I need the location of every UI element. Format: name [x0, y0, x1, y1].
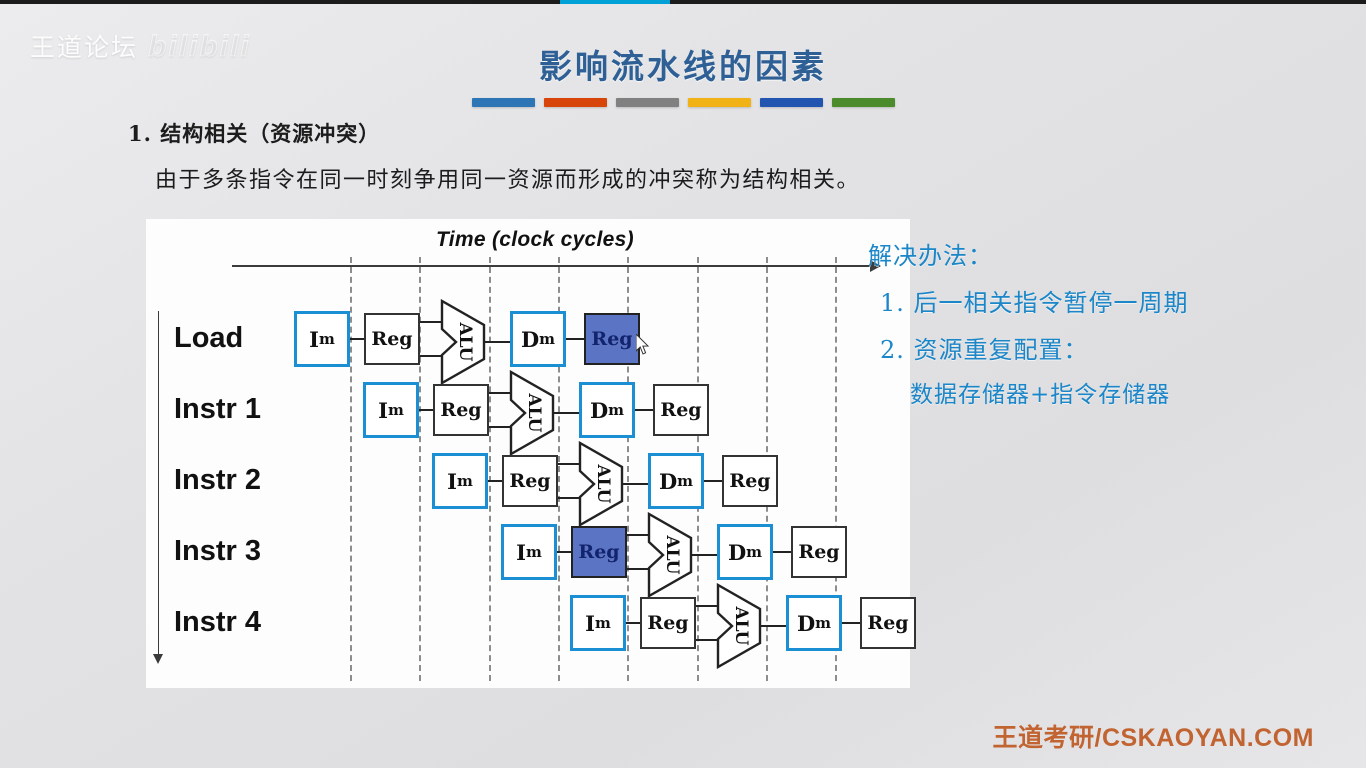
- instr3-if-im: Im: [501, 524, 557, 580]
- instr3-mem-dm: Dm: [717, 524, 773, 580]
- row-label-instr-1: Instr 1: [174, 393, 261, 426]
- figure-title: Time (clock cycles): [436, 228, 634, 252]
- instr1-if-im: Im: [363, 382, 419, 438]
- section-heading: 1. 结构相关（资源冲突）: [128, 118, 380, 148]
- pipeline-wire: [760, 625, 786, 627]
- instruction-axis-arrow: [158, 311, 159, 655]
- slide-root: 王道论坛bilibili 影响流水线的因素 1. 结构相关（资源冲突） 由于多条…: [0, 0, 1366, 768]
- pipeline-wire: [553, 412, 579, 414]
- pipeline-wire: [691, 554, 717, 556]
- instr1-id-reg: Reg: [433, 384, 489, 436]
- row-label-instr-3: Instr 3: [174, 535, 261, 568]
- instr1-mem-dm: Dm: [579, 382, 635, 438]
- annotation-line-1: 解决办法：: [868, 236, 1298, 271]
- pipeline-wire: [420, 355, 442, 357]
- pipeline-diagram: Time (clock cycles) LoadInstr 1Instr 2In…: [146, 219, 910, 688]
- instr3-id-reg: Reg: [571, 526, 627, 578]
- svg-text:ALU: ALU: [662, 534, 682, 574]
- pipeline-wire: [558, 497, 580, 499]
- pipeline-wire: [627, 534, 649, 536]
- load-wb-reg: Reg: [584, 313, 640, 365]
- svg-text:ALU: ALU: [524, 392, 544, 432]
- load-if-im: Im: [294, 311, 350, 367]
- pipeline-wire: [484, 341, 510, 343]
- svg-text:ALU: ALU: [593, 463, 613, 503]
- row-label-instr-2: Instr 2: [174, 464, 261, 497]
- video-progress-played: [560, 0, 670, 4]
- instr4-if-im: Im: [570, 595, 626, 651]
- pipeline-wire: [635, 409, 653, 411]
- pipeline-wire: [842, 622, 860, 624]
- rule-segment-6: [832, 98, 895, 107]
- pipeline-wire: [626, 622, 640, 624]
- load-mem-dm: Dm: [510, 311, 566, 367]
- page-title: 影响流水线的因素: [0, 40, 1366, 88]
- pipeline-wire: [489, 392, 511, 394]
- rule-segment-5: [760, 98, 823, 107]
- title-rule: [0, 98, 1366, 107]
- solution-annotation: 解决办法： 1. 后一相关指令暂停一周期 2. 资源重复配置： 数据存储器+指令…: [868, 236, 1298, 409]
- pipeline-wire: [419, 409, 433, 411]
- load-ex-alu: ALU: [440, 299, 486, 385]
- pipeline-wire: [696, 639, 718, 641]
- time-axis-arrow: [232, 265, 880, 267]
- pipeline-wire: [488, 480, 502, 482]
- pipeline-wire: [566, 338, 584, 340]
- svg-text:ALU: ALU: [455, 321, 475, 361]
- row-label-load: Load: [174, 322, 243, 355]
- instr4-id-reg: Reg: [640, 597, 696, 649]
- pipeline-wire: [627, 568, 649, 570]
- rule-segment-3: [616, 98, 679, 107]
- instr4-wb-reg: Reg: [860, 597, 916, 649]
- load-id-reg: Reg: [364, 313, 420, 365]
- instr3-ex-alu: ALU: [647, 512, 693, 598]
- annotation-line-2: 1. 后一相关指令暂停一周期: [868, 283, 1298, 318]
- pipeline-wire: [350, 338, 364, 340]
- mouse-cursor-icon: [636, 334, 650, 355]
- instr2-wb-reg: Reg: [722, 455, 778, 507]
- row-label-instr-4: Instr 4: [174, 606, 261, 639]
- instr2-mem-dm: Dm: [648, 453, 704, 509]
- cycle-separator-3: [489, 257, 491, 681]
- pipeline-wire: [558, 463, 580, 465]
- svg-text:ALU: ALU: [731, 605, 751, 645]
- pipeline-wire: [696, 605, 718, 607]
- section-paragraph: 由于多条指令在同一时刻争用同一资源而形成的冲突称为结构相关。: [155, 162, 860, 194]
- video-progress-bar[interactable]: [0, 0, 1366, 4]
- cycle-separator-1: [350, 257, 352, 681]
- rule-segment-1: [472, 98, 535, 107]
- instr2-if-im: Im: [432, 453, 488, 509]
- pipeline-wire: [773, 551, 791, 553]
- rule-segment-4: [688, 98, 751, 107]
- instr1-wb-reg: Reg: [653, 384, 709, 436]
- instr2-ex-alu: ALU: [578, 441, 624, 527]
- instr3-wb-reg: Reg: [791, 526, 847, 578]
- pipeline-wire: [489, 426, 511, 428]
- annotation-line-3: 2. 资源重复配置：: [868, 330, 1298, 365]
- instr4-mem-dm: Dm: [786, 595, 842, 651]
- rule-segment-2: [544, 98, 607, 107]
- bottom-watermark: 王道考研/CSKAOYAN.COM: [993, 718, 1315, 754]
- instr2-id-reg: Reg: [502, 455, 558, 507]
- pipeline-wire: [622, 483, 648, 485]
- pipeline-wire: [420, 321, 442, 323]
- pipeline-wire: [557, 551, 571, 553]
- instr4-ex-alu: ALU: [716, 583, 762, 669]
- pipeline-wire: [704, 480, 722, 482]
- instr1-ex-alu: ALU: [509, 370, 555, 456]
- annotation-line-4: 数据存储器+指令存储器: [868, 375, 1298, 409]
